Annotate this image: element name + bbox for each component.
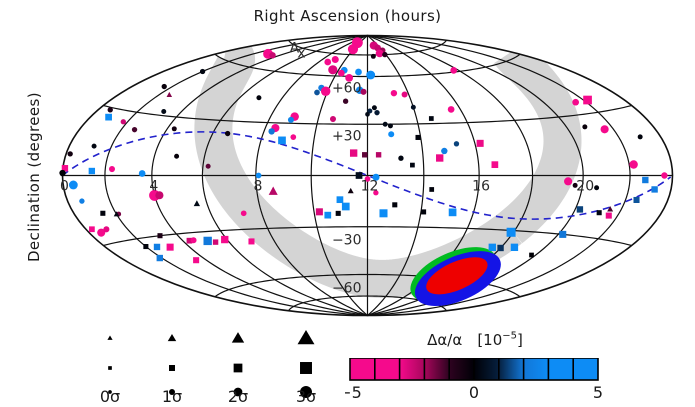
colorbar-title: Δα/α [10−5] (350, 330, 600, 349)
colorbar-units-open: [10 (477, 331, 502, 349)
legend-triangle-2 (232, 332, 244, 342)
colorbar-tick-0: −5 (345, 383, 362, 402)
ra-tick-16: 16 (472, 179, 490, 195)
colorbar[interactable]: −505 (345, 358, 605, 406)
y-axis-title: Declination (degrees) (25, 57, 43, 297)
legend-square-2 (234, 364, 243, 373)
size-legend: 0σ1σ2σ3σ (92, 326, 332, 404)
dec-tick-+30: +30 (332, 128, 362, 144)
dec-tick-−60: −60 (332, 281, 362, 297)
legend-square-3 (300, 362, 312, 374)
colorbar-units-close: ] (517, 331, 523, 349)
ra-tick-8: 8 (253, 179, 262, 195)
ra-tick-4: 4 (149, 179, 158, 195)
legend-label-1: 1σ (162, 387, 182, 404)
legend-triangle-3 (298, 330, 315, 344)
legend-triangle-0 (107, 336, 112, 340)
colorbar-tick-2: 5 (593, 383, 603, 402)
galactic-plane-band (213, 52, 562, 279)
ra-tick-12: 12 (361, 179, 379, 195)
legend-label-2: 2σ (228, 387, 248, 404)
colorbar-label-main: Δα/α (427, 331, 462, 349)
legend-label-3: 3σ (296, 387, 316, 404)
dipole-axis-marker-subscript: x (297, 45, 305, 61)
legend-label-0: 0σ (100, 387, 120, 404)
dec-tick-+60: +60 (332, 81, 362, 97)
ra-tick-0: 0 (60, 179, 69, 195)
colorbar-tick-1: 0 (469, 383, 479, 402)
legend-square-0 (108, 366, 112, 370)
dec-tick-−30: −30 (332, 233, 362, 249)
legend-square-1 (169, 365, 175, 371)
colorbar-units-exponent: −5 (502, 331, 517, 342)
page-title: Right Ascension (hours) (0, 7, 695, 25)
ra-tick-20: 20 (576, 179, 594, 195)
sky-map-plot: 048121620+60+30−30−60Ax (55, 28, 680, 323)
legend-triangle-1 (168, 334, 176, 341)
